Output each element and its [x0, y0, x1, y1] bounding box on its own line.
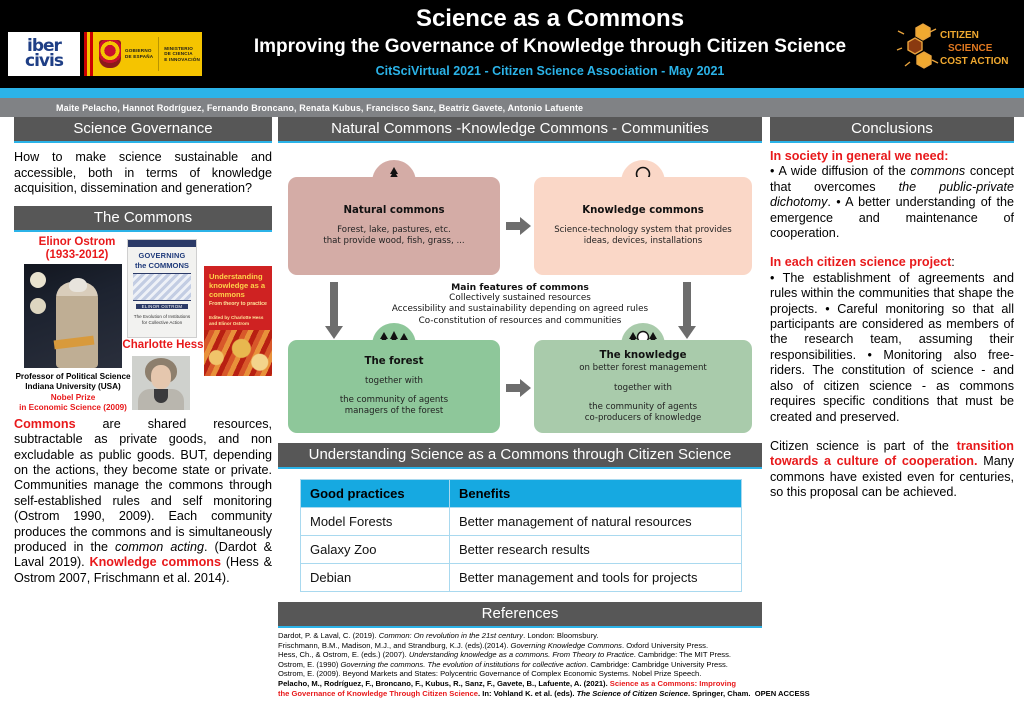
ostrom-caption-line2: Indiana University (USA) [14, 382, 132, 392]
section-header-references: References [278, 602, 762, 628]
box-forest-line2: the community of agents [340, 395, 448, 406]
cell-practice: Model Forests [301, 508, 450, 536]
ostrom-name-label: Elinor Ostrom (1933-2012) [22, 236, 132, 262]
box-forest-title: The forest [365, 356, 424, 367]
section-header-good-practices: Understanding Science as a Commons throu… [278, 443, 762, 469]
conclusions-block2: In each citizen science project: • The e… [770, 255, 1014, 424]
gobierno-espana-logo: GOBIERNO DE ESPAÑA MINISTERIO DE CIENCIA… [84, 32, 202, 76]
ministerio-line3: E INNOVACIÓN [164, 57, 200, 63]
box-knowledge2-title: The knowledge [600, 350, 687, 361]
ministerio-label: MINISTERIO DE CIENCIA E INNOVACIÓN [164, 46, 200, 63]
book-cover-artwork [204, 330, 272, 376]
hexagon-icon: CITIZEN SCIENCE COST ACTION [896, 18, 1014, 78]
conclusions-block3-a: Citizen science is part of the [770, 439, 957, 453]
ostrom-caption-line3: Nobel Prize [14, 393, 132, 403]
ostrom-name-line1: Elinor Ostrom [22, 236, 132, 249]
lamp-icon [30, 272, 46, 288]
box-knowledge2-line3: co-producers of knowledge [585, 413, 702, 424]
book-understanding-knowledge: Understanding knowledge as a commons Fro… [204, 266, 272, 376]
person-silhouette [56, 282, 98, 368]
hess-face-shape [151, 365, 171, 389]
features-line1: Collectively sustained resources [360, 293, 680, 304]
commons-italic-1: common acting [115, 540, 204, 554]
references-list: Dardot, P. & Laval, C. (2019). Common: O… [278, 631, 762, 698]
conclusions-block1-heading: In society in general we need: [770, 149, 948, 163]
reference-item: Dardot, P. & Laval, C. (2019). Common: O… [278, 631, 762, 641]
ostrom-name-line2: (1933-2012) [22, 249, 132, 262]
arrow-down-left-icon [325, 282, 343, 340]
features-line2: Accessibility and sustainability dependi… [360, 304, 680, 315]
conclusions-b1-c: . [827, 195, 831, 209]
gobierno-label: GOBIERNO DE ESPAÑA [125, 48, 153, 59]
svg-text:SCIENCE: SCIENCE [948, 43, 993, 54]
ostrom-caption-line1: Professor of Political Science [14, 372, 132, 382]
poster-header: iber civis GOBIERNO DE ESPAÑA MINISTERIO… [0, 0, 1024, 88]
ostrom-caption-line4: in Economic Science (2009) [14, 403, 132, 413]
commons-keyword: Commons [14, 417, 76, 431]
box-forest-desc: together with the community of agents ma… [340, 376, 448, 417]
box-knowledge2-desc: together with the community of agents co… [585, 383, 702, 424]
commons-diagram: Natural commons Forest, lake, pastures, … [278, 147, 762, 437]
box-natural-commons: Natural commons Forest, lake, pastures, … [288, 177, 500, 275]
conclusions-b1-it1: commons [911, 164, 966, 178]
book-cover-graphic [133, 273, 191, 301]
svg-text:COST ACTION: COST ACTION [940, 56, 1009, 67]
features-heading: Main features of commons [360, 282, 680, 293]
table-row: Debian Better management and tools for p… [301, 564, 742, 592]
box-knowledge2-sub: on better forest management [579, 363, 707, 374]
box-knowledge-title: Knowledge commons [582, 205, 704, 216]
conclusions-body: In society in general we need: • A wide … [770, 149, 1014, 501]
open-access-badge: OPEN ACCESS [755, 689, 810, 698]
svg-text:CITIZEN: CITIZEN [940, 30, 979, 41]
hess-collar-shape [154, 389, 168, 403]
cell-practice: Galaxy Zoo [301, 536, 450, 564]
conclusions-b1-a: • A wide diffusion of the [770, 164, 911, 178]
book-governing-title2: the COMMONS [128, 261, 196, 270]
box-forest-line3: managers of the forest [340, 406, 448, 417]
right-column: Conclusions In society in general we nee… [770, 117, 1014, 501]
left-column: Science Governance How to make science s… [14, 117, 272, 586]
book-governing-subtitle1: The Evolution of Institutions [128, 314, 196, 320]
conclusions-block3: Citizen science is part of the transitio… [770, 439, 1014, 501]
book-understanding-subtitle: From theory to practice [204, 299, 272, 307]
book-understanding-editors2: and Elinor Ostrom [209, 321, 267, 327]
book-governing-title1: GOVERNING [128, 251, 196, 260]
spanish-flag-icon [84, 32, 93, 76]
section-header-the-commons: The Commons [14, 206, 272, 232]
center-column: Natural Commons -Knowledge Commons - Com… [278, 117, 762, 698]
column-header-benefits: Benefits [450, 480, 742, 508]
reference-item-highlight-2: the Governance of Knowledge Through Citi… [278, 689, 762, 699]
box-knowledge2-line2: the community of agents [585, 402, 702, 413]
charlotte-hess-photo [132, 356, 190, 410]
box-knowledge-line1: Science-technology system that provides [554, 225, 732, 236]
box-forest-line1: together with [340, 376, 448, 387]
cell-benefit: Better management and tools for projects [450, 564, 742, 592]
book-understanding-editors: Edited by Charlotte Hess and Elinor Ostr… [204, 307, 272, 327]
conclusions-block2-heading: In each citizen science project [770, 255, 951, 269]
accent-divider [0, 88, 1024, 98]
box-the-knowledge: The knowledge on better forest managemen… [534, 340, 752, 433]
commons-definition-text: Commons are shared resources, subtractab… [14, 417, 272, 586]
book-governing-subtitle2: for Collective Action [128, 320, 196, 326]
arrow-down-right-icon [678, 282, 696, 340]
section-header-science-governance: Science Governance [14, 117, 272, 143]
book-governing-author: ELINOR OSTROM [136, 304, 188, 309]
arrow-right-bottom-icon [506, 379, 532, 397]
reference-item: Ostrom, E. (2009). Beyond Markets and St… [278, 669, 762, 679]
box-knowledge2-line1: together with [585, 383, 702, 394]
commons-body-1: are shared resources, subtractable as pr… [14, 417, 272, 554]
conclusions-block2-colon: : [951, 255, 955, 269]
knowledge-commons-keyword: Knowledge commons [90, 555, 222, 569]
cell-practice: Debian [301, 564, 450, 592]
box-natural-line2: that provide wood, fish, grass, ... [323, 236, 464, 247]
gobierno-line2: DE ESPAÑA [125, 54, 153, 60]
book-top-band [128, 240, 196, 247]
book-governing-subtitle: The Evolution of Institutions for Collec… [128, 314, 196, 326]
poster-title-block: Science as a Commons Improving the Gover… [210, 4, 890, 82]
box-natural-desc: Forest, lake, pastures, etc. that provid… [323, 225, 464, 247]
ibercivis-logo-line2: civis [25, 54, 63, 69]
ostrom-caption: Professor of Political Science Indiana U… [14, 372, 132, 414]
science-governance-text: How to make science sustainable and acce… [14, 150, 272, 197]
hair-shape [69, 278, 87, 292]
table-header-row: Good practices Benefits [301, 480, 742, 508]
book-understanding-title: Understanding knowledge as a commons [204, 266, 272, 300]
cell-benefit: Better research results [450, 536, 742, 564]
commons-image-group: Elinor Ostrom (1933-2012) Professor of P… [14, 236, 272, 411]
logo-divider [158, 37, 159, 71]
table-row: Model Forests Better management of natur… [301, 508, 742, 536]
reference-item: Frischmann, B.M., Madison, M.J., and Str… [278, 641, 762, 651]
column-header-good-practices: Good practices [301, 480, 450, 508]
reference-item: Ostrom, E. (1990) Governing the commons.… [278, 660, 762, 670]
hess-name-label: Charlotte Hess [120, 339, 206, 351]
coat-of-arms-icon [99, 40, 121, 68]
box-natural-title: Natural commons [343, 205, 444, 216]
reference-item-highlight: Pelacho, M., Rodríguez, F., Broncano, F.… [278, 679, 762, 689]
box-the-forest: The forest together with the community o… [288, 340, 500, 433]
section-header-diagram: Natural Commons -Knowledge Commons - Com… [278, 117, 762, 143]
conference-line: CitSciVirtual 2021 - Citizen Science Ass… [210, 60, 890, 82]
lamp2-icon [30, 298, 46, 314]
arrow-right-top-icon [506, 217, 532, 235]
box-knowledge-desc: Science-technology system that provides … [554, 225, 732, 247]
good-practices-table: Good practices Benefits Model Forests Be… [300, 479, 742, 592]
cost-action-logo: CITIZEN SCIENCE COST ACTION [896, 18, 1014, 78]
table-row: Galaxy Zoo Better research results [301, 536, 742, 564]
section-header-conclusions: Conclusions [770, 117, 1014, 143]
ibercivis-logo: iber civis [8, 32, 80, 76]
author-list: Maite Pelacho, Hannot Rodríguez, Fernand… [0, 98, 1024, 117]
poster-title: Science as a Commons [210, 4, 890, 34]
box-natural-line1: Forest, lake, pastures, etc. [323, 225, 464, 236]
conclusions-block1: In society in general we need: • A wide … [770, 149, 1014, 241]
book-governing-the-commons: GOVERNING the COMMONS ELINOR OSTROM The … [127, 239, 197, 338]
cell-benefit: Better management of natural resources [450, 508, 742, 536]
main-features-block: Main features of commons Collectively su… [360, 282, 680, 327]
reference-item: Hess, Ch., & Ostrom, E. (eds.) (2007). U… [278, 650, 762, 660]
box-knowledge-line2: ideas, devices, installations [554, 236, 732, 247]
box-knowledge-commons: Knowledge commons Science-technology sys… [534, 177, 752, 275]
poster-subtitle: Improving the Governance of Knowledge th… [210, 34, 890, 60]
elinor-ostrom-photo [24, 264, 122, 368]
